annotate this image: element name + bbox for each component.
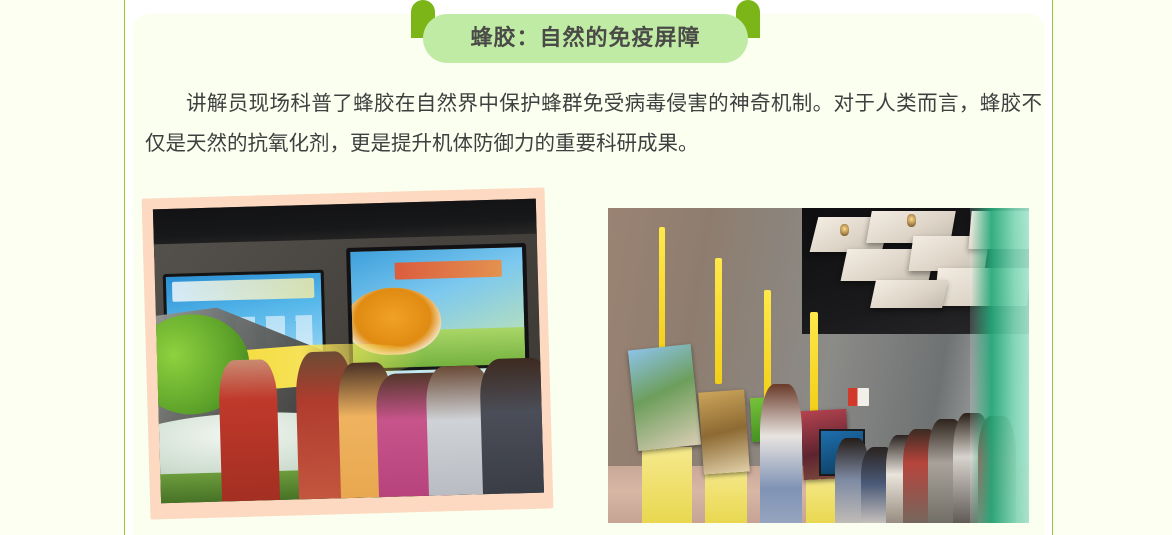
visitor-figure xyxy=(479,357,544,494)
spotlight-icon xyxy=(840,224,849,237)
green-glass-partition xyxy=(970,208,1029,523)
exhibit-pedestal xyxy=(642,447,693,523)
visitor-figure xyxy=(218,359,279,502)
photo-right[interactable] xyxy=(608,208,1029,523)
light-column xyxy=(810,312,818,413)
spotlight-icon xyxy=(907,214,916,227)
light-column xyxy=(659,227,666,362)
exhibit-pedestal xyxy=(705,466,747,523)
screen-headline-text xyxy=(395,260,502,280)
right-margin-rule xyxy=(1052,0,1053,535)
wall-screen-left-headline xyxy=(172,278,315,302)
visitor-figure xyxy=(760,384,802,523)
photo-left-image xyxy=(153,199,544,504)
photo-row xyxy=(133,14,1044,535)
left-margin-rule xyxy=(124,0,125,535)
content-card: 蜂胶：自然的免疫屏障 讲解员现场科普了蜂胶在自然界中保护蜂群免受病毒侵害的神奇机… xyxy=(133,14,1044,535)
exhibit-board xyxy=(698,389,750,474)
ceiling-panel xyxy=(870,280,948,308)
photo-left[interactable] xyxy=(142,187,554,519)
page-root: 蜂胶：自然的免疫屏障 讲解员现场科普了蜂胶在自然界中保护蜂群免受病毒侵害的神奇机… xyxy=(0,0,1172,535)
exhibit-board xyxy=(628,344,701,451)
wall-sign xyxy=(848,388,869,407)
light-column xyxy=(715,258,722,384)
